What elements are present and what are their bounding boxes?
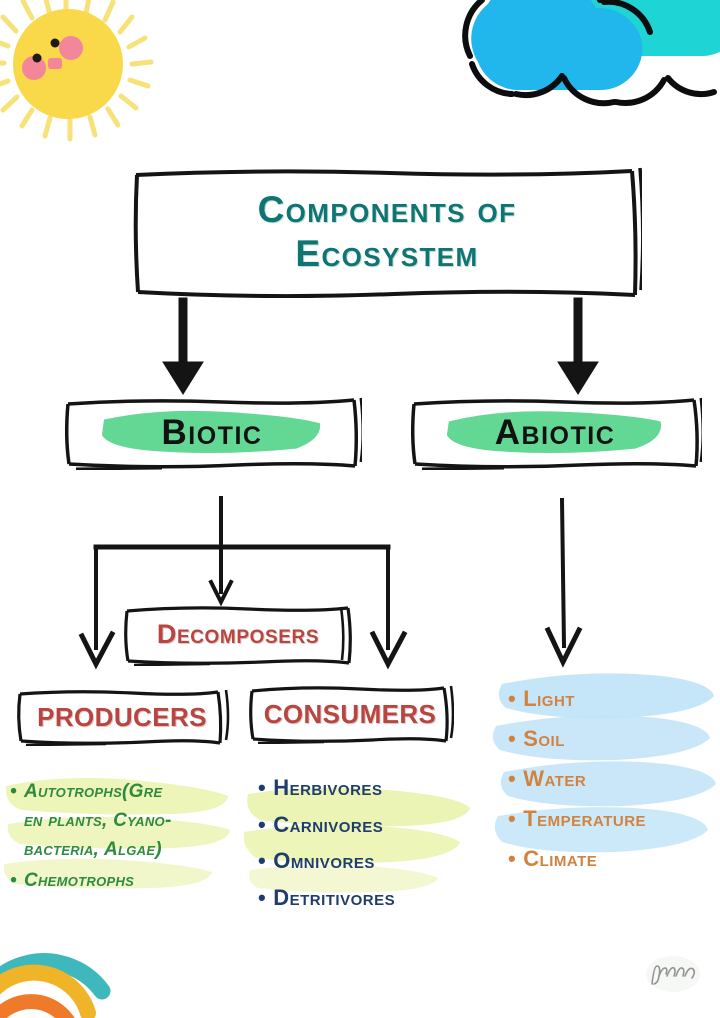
title-box: Components of Ecosystem xyxy=(132,166,642,298)
poster-canvas: Components of Ecosystem Biotic Abi xyxy=(0,0,720,1018)
list-item: • Carnivores xyxy=(258,809,473,842)
abiotic-label: Abiotic xyxy=(495,412,616,453)
bullet-glyph: • xyxy=(258,772,266,805)
producers-label: PRODUCERS xyxy=(37,702,207,733)
bullet-glyph: • xyxy=(508,762,516,795)
abiotic-box[interactable]: Abiotic xyxy=(408,396,702,470)
list-item-text: Omnivores xyxy=(273,845,375,878)
bullet-glyph: • xyxy=(508,802,516,835)
list-item-text: Chemotrophs xyxy=(24,867,134,896)
list-item: • Herbivores xyxy=(258,772,473,805)
bullet-glyph: • xyxy=(10,778,17,807)
bullet-glyph: • xyxy=(508,682,516,715)
list-item-text: Autotrophs(Gre en plants, Cyano- bacteri… xyxy=(24,778,172,865)
list-item: • Light xyxy=(508,682,713,715)
bullet-glyph: • xyxy=(10,867,17,896)
decomposers-box[interactable]: Decomposers xyxy=(122,604,354,666)
page-title: Components of Ecosystem xyxy=(258,188,517,275)
list-item: • Omnivores xyxy=(258,845,473,878)
consumers-label: CONSUMERS xyxy=(264,699,437,730)
abiotic-bullet-list: • Light • Soil • Water • Temperature • C… xyxy=(508,682,713,882)
list-item: • Climate xyxy=(508,842,713,875)
list-item: • Temperature xyxy=(508,802,713,835)
biotic-box[interactable]: Biotic xyxy=(62,396,362,470)
decomposers-label: Decomposers xyxy=(157,619,319,651)
list-item: • Water xyxy=(508,762,713,795)
list-item: • Detritivores xyxy=(258,882,473,915)
consumers-bullet-list: • Herbivores • Carnivores • Omnivores • … xyxy=(258,772,473,918)
list-item-text: Soil xyxy=(523,722,565,755)
list-item-text: Climate xyxy=(523,842,597,875)
list-item-text: Herbivores xyxy=(273,772,382,805)
bullet-glyph: • xyxy=(508,722,516,755)
bullet-glyph: • xyxy=(508,842,516,875)
list-item: • Autotrophs(Gre en plants, Cyano- bacte… xyxy=(10,778,235,865)
bullet-glyph: • xyxy=(258,809,266,842)
biotic-label: Biotic xyxy=(162,412,263,453)
list-item-text: Temperature xyxy=(523,802,646,835)
list-item: • Chemotrophs xyxy=(10,867,235,896)
bullet-glyph: • xyxy=(258,845,266,878)
list-item-text: Detritivores xyxy=(273,882,395,915)
list-item: • Soil xyxy=(508,722,713,755)
consumers-box[interactable]: CONSUMERS xyxy=(246,684,454,744)
list-item-text: Water xyxy=(523,762,586,795)
bullet-glyph: • xyxy=(258,882,266,915)
list-item-text: Light xyxy=(523,682,575,715)
list-item-text: Carnivores xyxy=(273,809,383,842)
producers-box[interactable]: PRODUCERS xyxy=(14,688,230,746)
producers-bullet-list: • Autotrophs(Gre en plants, Cyano- bacte… xyxy=(10,778,235,898)
